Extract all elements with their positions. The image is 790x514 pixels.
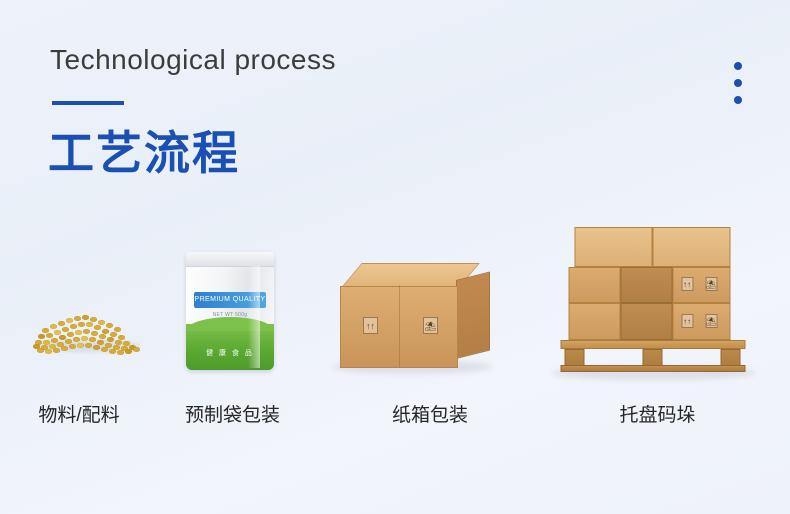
box-mark-up-arrows: ↑↑: [363, 317, 378, 334]
carton-box-icon: ↑↑ ⛱: [340, 263, 490, 368]
stage-pallet: ↑↑ ⛱ ↑↑ ⛱: [545, 225, 760, 400]
pouch-brand-text: PREMIUM QUALITY: [194, 292, 266, 308]
carton-seam: [399, 285, 400, 367]
title-underline-rule: [52, 101, 124, 105]
pouch-sub-text: NET WT 500g: [196, 312, 264, 318]
menu-dot-3: [734, 96, 742, 104]
pallet-box-top-left: [574, 227, 652, 267]
stage-carton: ↑↑ ⛱: [320, 225, 510, 400]
pouch-green-band: [186, 324, 274, 370]
pallet-box-mid-2: [620, 267, 672, 303]
page-title-chinese: 工艺流程: [48, 117, 240, 183]
pouch-brand-bar: PREMIUM QUALITY: [194, 292, 266, 308]
box-mark-umbrella: ⛱: [423, 317, 438, 334]
box-mark-up-arrows: ↑↑: [681, 277, 693, 291]
pallet-box-top-right: [652, 227, 730, 267]
page-title-english: Technological process: [50, 44, 336, 76]
menu-dot-1: [734, 62, 742, 70]
pallet-box-bottom-1: [568, 303, 620, 340]
box-mark-umbrella: ⛱: [705, 314, 717, 328]
stage-label-carton: 纸箱包装: [355, 400, 505, 427]
grain-pile-icon: [32, 302, 144, 352]
box-mark-up-arrows: ↑↑: [681, 314, 693, 328]
pallet-box-bottom-2: [620, 303, 672, 340]
pallet-stack-icon: ↑↑ ⛱ ↑↑ ⛱: [560, 227, 745, 372]
carton-shape: ↑↑ ⛱: [340, 263, 490, 368]
pouch-top-seal: [186, 252, 274, 267]
carton-side-face: [456, 272, 490, 359]
stage-label-pallet: 托盘码垛: [600, 400, 715, 427]
process-flow-diagram: PREMIUM QUALITY NET WT 500g 健 康 食 品: [0, 225, 790, 400]
menu-dots-icon[interactable]: [734, 62, 742, 104]
pallet-box-bottom-3: ↑↑ ⛱: [672, 303, 730, 340]
grain-pile-shape: [32, 302, 144, 352]
stage-label-material: 物料/配料: [14, 400, 144, 427]
pallet-stack-shape: ↑↑ ⛱ ↑↑ ⛱: [560, 227, 745, 372]
stage-pouch: PREMIUM QUALITY NET WT 500g 健 康 食 品: [150, 225, 310, 400]
box-mark-umbrella: ⛱: [705, 277, 717, 291]
slide-canvas: Technological process 工艺流程: [0, 0, 790, 514]
pallet-deck: [560, 340, 745, 349]
menu-dot-2: [734, 79, 742, 87]
pouch-shape: PREMIUM QUALITY NET WT 500g 健 康 食 品: [186, 252, 274, 370]
pallet-box-mid-3: ↑↑ ⛱: [672, 267, 730, 303]
stand-up-pouch-icon: PREMIUM QUALITY NET WT 500g 健 康 食 品: [186, 252, 274, 370]
pallet-bottom-rail: [560, 365, 745, 372]
pouch-green-text: 健 康 食 品: [192, 348, 268, 358]
stage-label-pouch: 预制袋包装: [160, 400, 305, 427]
pallet-box-mid-1: [568, 267, 620, 303]
stage-material: [0, 225, 175, 400]
pallet-base: [560, 340, 745, 372]
carton-front-face: ↑↑ ⛱: [340, 286, 458, 368]
